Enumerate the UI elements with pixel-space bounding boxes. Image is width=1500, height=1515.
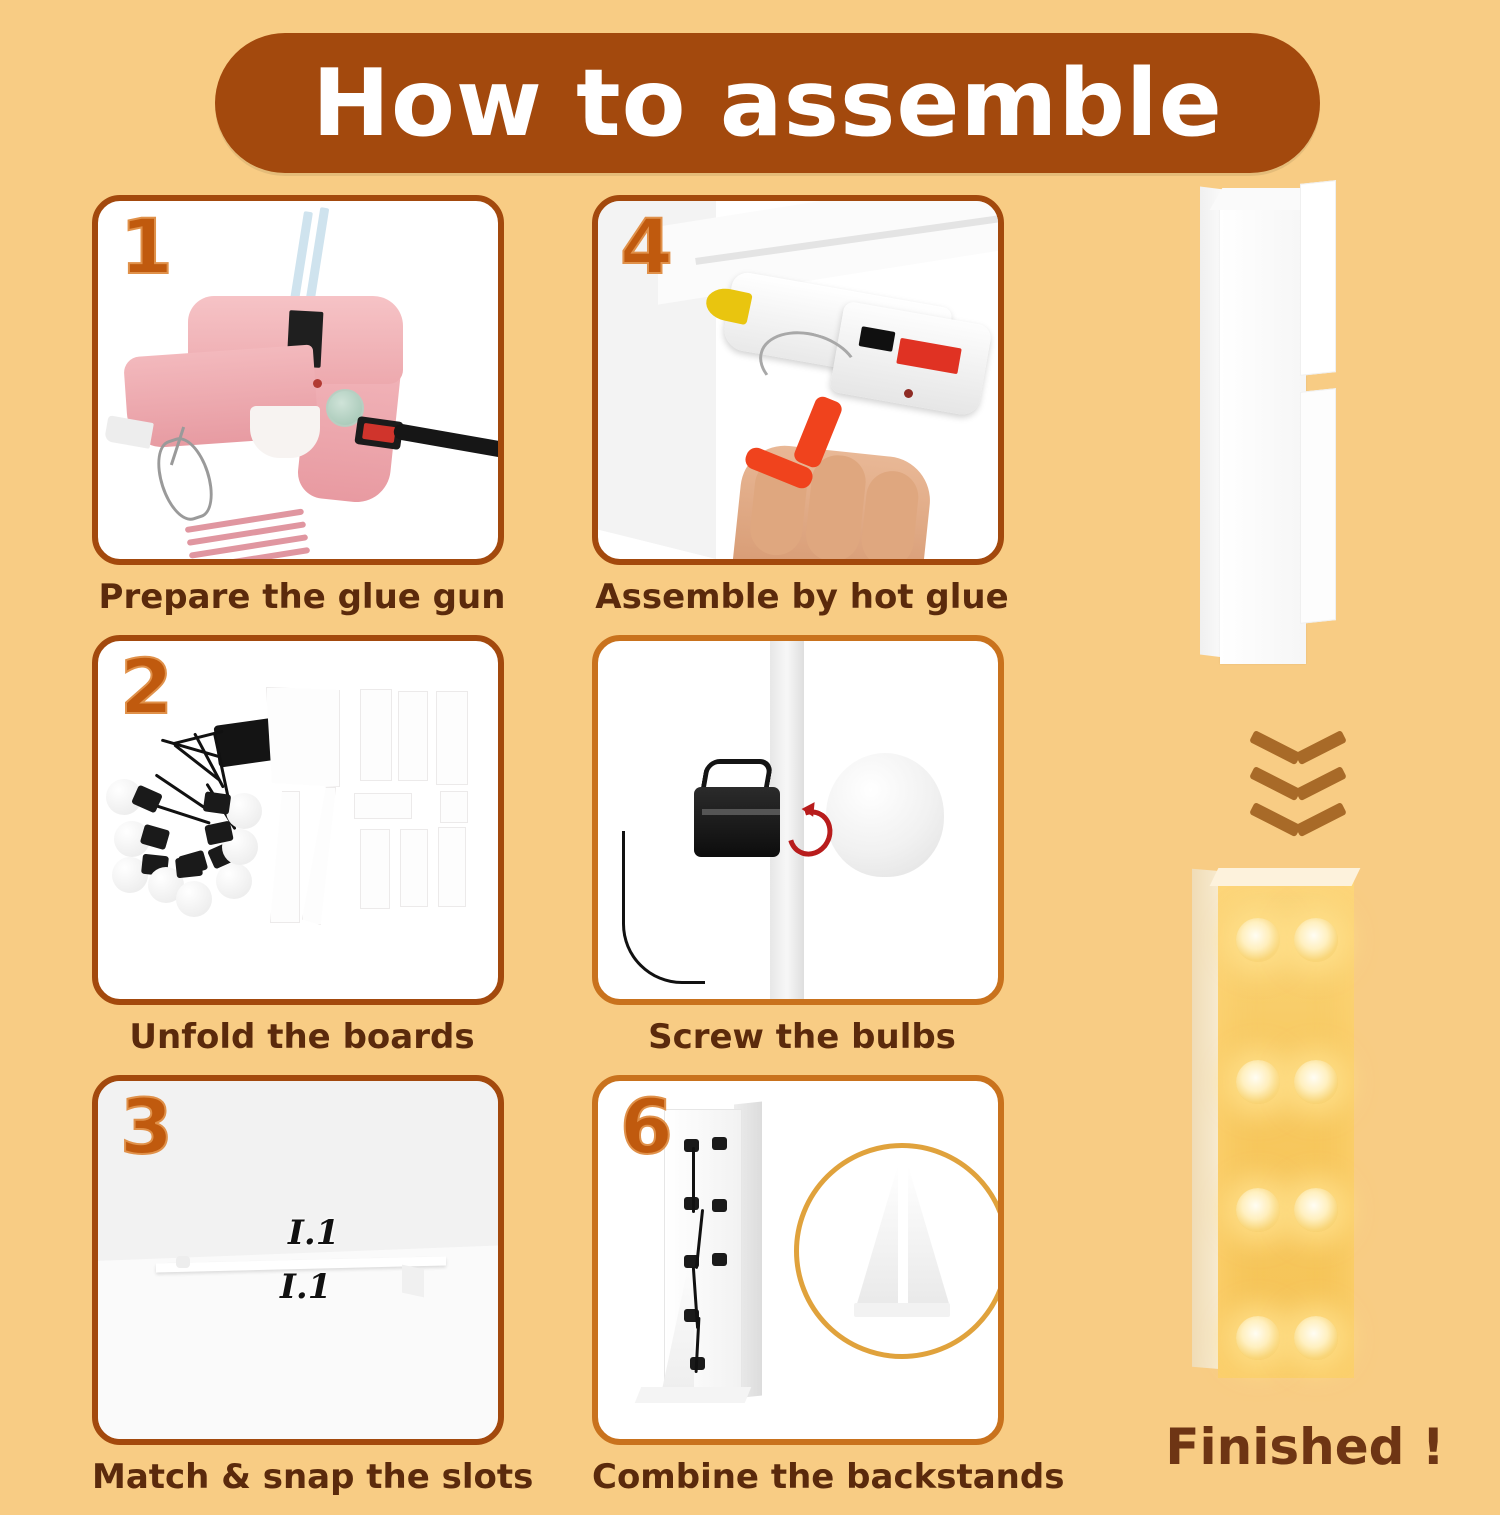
finger — [859, 469, 921, 565]
step-caption-6: Combine the backstands — [592, 1457, 1012, 1497]
step-number-3: 3 — [120, 1089, 173, 1165]
glowing-bulb — [1294, 1060, 1338, 1104]
step-number-1: 1 — [120, 209, 173, 285]
slot-label-upper: I.1 — [288, 1213, 339, 1253]
power-cord-icon — [393, 423, 504, 460]
page-title-banner: How to assemble — [215, 33, 1320, 173]
box-back-flap-bottom — [1300, 388, 1336, 624]
lamp-front-panel — [1218, 878, 1354, 1378]
foam-board-piece — [440, 791, 468, 823]
chevron-down-icon — [1255, 802, 1341, 828]
step-image-6: 6 — [592, 1075, 1004, 1445]
foam-board-piece — [354, 793, 412, 819]
step-card-4: 4 — [592, 195, 1012, 617]
glowing-bulb — [1294, 918, 1338, 962]
led-bulb-icon — [826, 753, 944, 877]
snap-tab-right — [402, 1265, 424, 1298]
led-bulb-icon — [216, 863, 252, 899]
step-caption-1: Prepare the glue gun — [92, 577, 512, 617]
led-bulb-icon — [176, 881, 212, 917]
foam-board-piece — [438, 827, 466, 907]
step-image-2: 2 — [92, 635, 504, 1005]
screw-bulb-icon — [598, 641, 998, 999]
step-number-2: 2 — [120, 649, 173, 725]
chevron-down-icon — [1255, 730, 1341, 756]
finished-label: Finished ! — [1120, 1418, 1490, 1476]
finger — [803, 453, 868, 564]
foam-board-piece — [360, 829, 390, 909]
foam-board-piece — [398, 691, 428, 781]
result-column: Finished ! — [1120, 170, 1490, 670]
wire — [692, 1147, 695, 1213]
bulb-socket-icon — [203, 791, 232, 814]
step-card-1: 1 — [92, 195, 512, 617]
steps-column-right: 4 — [592, 195, 1012, 1515]
down-chevrons-icon — [1238, 730, 1358, 838]
socket-ring — [702, 809, 780, 815]
foam-board-piece — [436, 691, 468, 785]
glue-gun-indicator-light — [313, 379, 322, 388]
step-card-5: Screw the bulbs — [592, 635, 1012, 1057]
foam-board-piece — [270, 791, 300, 923]
bulb-socket-icon — [712, 1253, 727, 1266]
glue-gun-trigger — [250, 406, 320, 458]
backstand-inset-base — [854, 1303, 950, 1317]
step-caption-5: Screw the bulbs — [592, 1017, 1012, 1057]
step-image-5 — [592, 635, 1004, 1005]
step-image-1: 1 — [92, 195, 504, 565]
socket-wire — [622, 831, 705, 984]
step-caption-4: Assemble by hot glue — [592, 577, 1012, 617]
chevron-down-icon — [1255, 766, 1341, 792]
foam-board-piece — [360, 689, 392, 781]
snap-tab-left — [176, 1256, 190, 1268]
step-card-6: 6 — [592, 1075, 1012, 1497]
bulb-socket-icon — [712, 1199, 727, 1212]
glowing-bulb — [1236, 1316, 1280, 1360]
step-image-3: 3 I.1 I.1 — [92, 1075, 504, 1445]
step-card-3: 3 I.1 I.1 Match & snap the slots — [92, 1075, 512, 1497]
led-bulb-icon — [226, 793, 262, 829]
step-caption-3: Match & snap the slots — [92, 1457, 512, 1497]
unlit-assembled-box-icon — [1200, 182, 1340, 682]
glowing-bulb — [1236, 1188, 1280, 1232]
box-front-panel — [1220, 204, 1306, 664]
lit-marquee-letter-icon — [1192, 870, 1392, 1390]
box-back-flap-top — [1300, 180, 1336, 376]
step-number-4: 4 — [620, 209, 673, 285]
bulb-socket-icon — [694, 787, 780, 857]
glowing-bulb — [1236, 1060, 1280, 1104]
backstand-base — [635, 1387, 751, 1403]
glowing-bulb — [1294, 1188, 1338, 1232]
step-card-2: 2 — [92, 635, 512, 1057]
step-image-4: 4 — [592, 195, 1004, 565]
step-caption-2: Unfold the boards — [92, 1017, 512, 1057]
bulb-socket-icon — [178, 850, 209, 876]
foam-board-piece — [400, 829, 428, 907]
glowing-bulb — [1294, 1316, 1338, 1360]
step-number-6: 6 — [620, 1089, 673, 1165]
glue-gun-indicator-light — [904, 389, 913, 398]
bulb-socket-icon — [712, 1137, 727, 1150]
lamp-top-panel — [1210, 868, 1361, 886]
foam-board-piece — [302, 787, 336, 925]
steps-column-left: 1 — [92, 195, 512, 1515]
glowing-bulb — [1236, 918, 1280, 962]
page-title: How to assemble — [312, 57, 1223, 150]
backstand-detail-circle — [794, 1143, 1004, 1359]
slot-label-lower: I.1 — [280, 1267, 331, 1307]
foam-board-piece — [266, 687, 340, 787]
